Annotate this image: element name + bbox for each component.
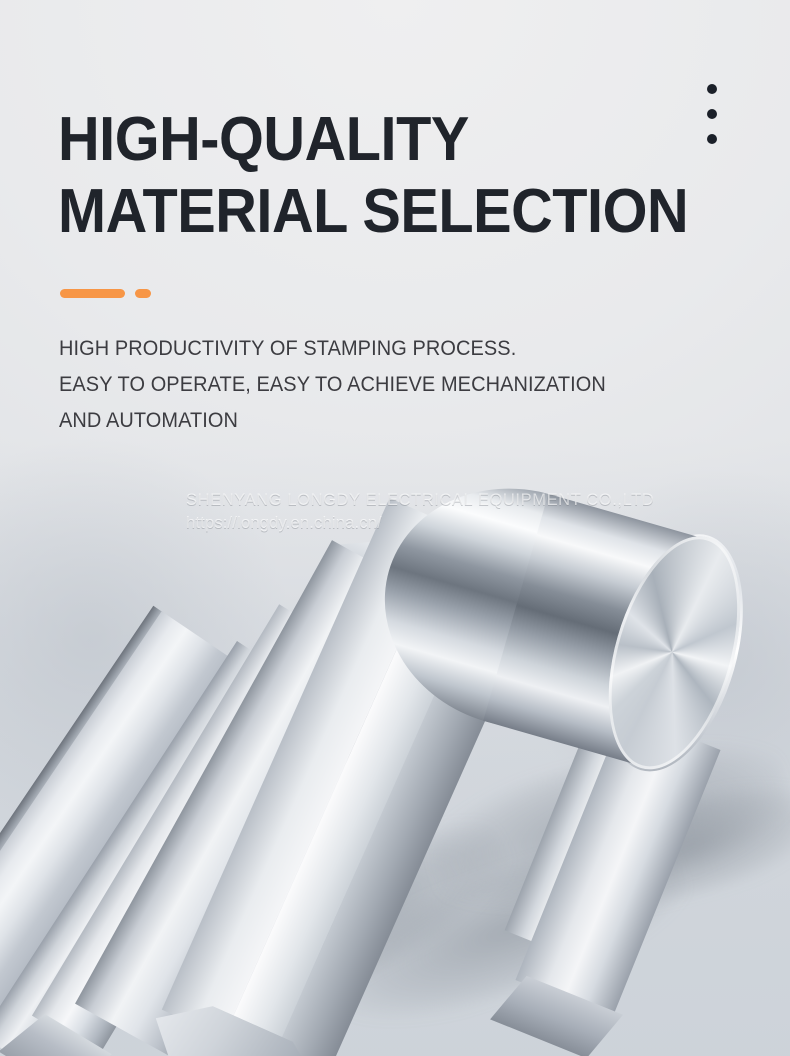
page-title: HIGH-QUALITY MATERIAL SELECTION: [58, 104, 688, 248]
accent-dot: [135, 289, 151, 298]
page-subtitle-line-3: AND AUTOMATION: [59, 403, 606, 439]
accent-bar: [60, 289, 125, 298]
product-photo: [0, 470, 790, 1056]
vertical-dots-icon: [707, 84, 717, 144]
page-title-line-1: HIGH-QUALITY: [58, 104, 688, 176]
dot-1: [707, 84, 717, 94]
dot-3: [707, 134, 717, 144]
page-subtitle-line-1: HIGH PRODUCTIVITY OF STAMPING PROCESS.: [59, 331, 606, 367]
accent-divider: [60, 289, 151, 298]
page-subtitle-line-2: EASY TO OPERATE, EASY TO ACHIEVE MECHANI…: [59, 367, 606, 403]
page-title-line-2: MATERIAL SELECTION: [58, 176, 688, 248]
dot-2: [707, 109, 717, 119]
page-subtitle: HIGH PRODUCTIVITY OF STAMPING PROCESS. E…: [59, 331, 606, 439]
product-banner: HIGH-QUALITY MATERIAL SELECTION HIGH PRO…: [0, 0, 790, 1056]
